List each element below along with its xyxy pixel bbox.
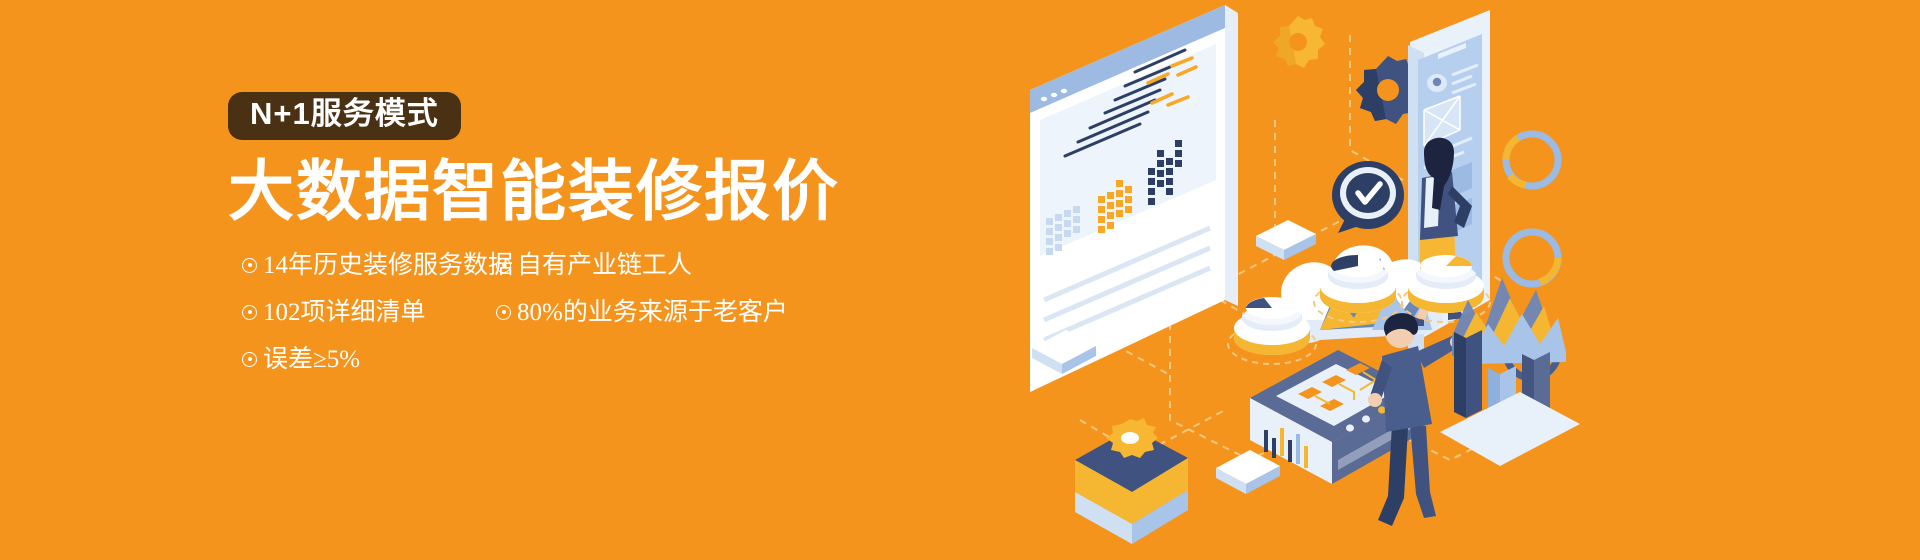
list-item-label: 自有产业链工人 bbox=[517, 253, 692, 278]
feature-column-right: 自有产业链工人 80%的业务来源于老客户 bbox=[496, 253, 788, 347]
list-item: 误差≥5% bbox=[242, 347, 513, 372]
bullet-dot-icon bbox=[242, 352, 257, 367]
feature-column-left: 14年历史装修服务数据 102项详细清单 误差≥5% bbox=[242, 253, 513, 394]
database-stack-gear bbox=[1075, 418, 1188, 544]
ring-chart-2 bbox=[1506, 232, 1558, 284]
list-item-label: 误差≥5% bbox=[263, 347, 360, 372]
bullet-dot-icon bbox=[242, 258, 257, 273]
check-badge-icon bbox=[1332, 161, 1404, 233]
promo-banner: N+1服务模式 大数据智能装修报价 14年历史装修服务数据 102项详细清单 误… bbox=[0, 0, 1920, 560]
service-mode-badge: N+1服务模式 bbox=[228, 92, 461, 140]
bullet-dot-icon bbox=[496, 305, 511, 320]
gear-yellow-icon bbox=[1273, 16, 1325, 68]
floating-tile-3 bbox=[1256, 220, 1316, 260]
list-item: 102项详细清单 bbox=[242, 300, 513, 325]
bullet-dot-icon bbox=[242, 305, 257, 320]
list-item: 80%的业务来源于老客户 bbox=[496, 300, 788, 325]
list-item: 自有产业链工人 bbox=[496, 253, 788, 278]
list-item-label: 102项详细清单 bbox=[263, 300, 426, 325]
bullet-dot-icon bbox=[496, 258, 511, 273]
page-title: 大数据智能装修报价 bbox=[228, 156, 988, 227]
list-item: 14年历史装修服务数据 bbox=[242, 253, 513, 278]
list-item-label: 80%的业务来源于老客户 bbox=[517, 300, 788, 325]
hero-text-block: N+1服务模式 大数据智能装修报价 14年历史装修服务数据 102项详细清单 误… bbox=[228, 92, 988, 253]
floating-tile-2 bbox=[1216, 450, 1280, 494]
ring-chart-1 bbox=[1506, 134, 1558, 186]
isometric-illustration bbox=[1020, 0, 1580, 560]
list-item-label: 14年历史装修服务数据 bbox=[263, 253, 513, 278]
